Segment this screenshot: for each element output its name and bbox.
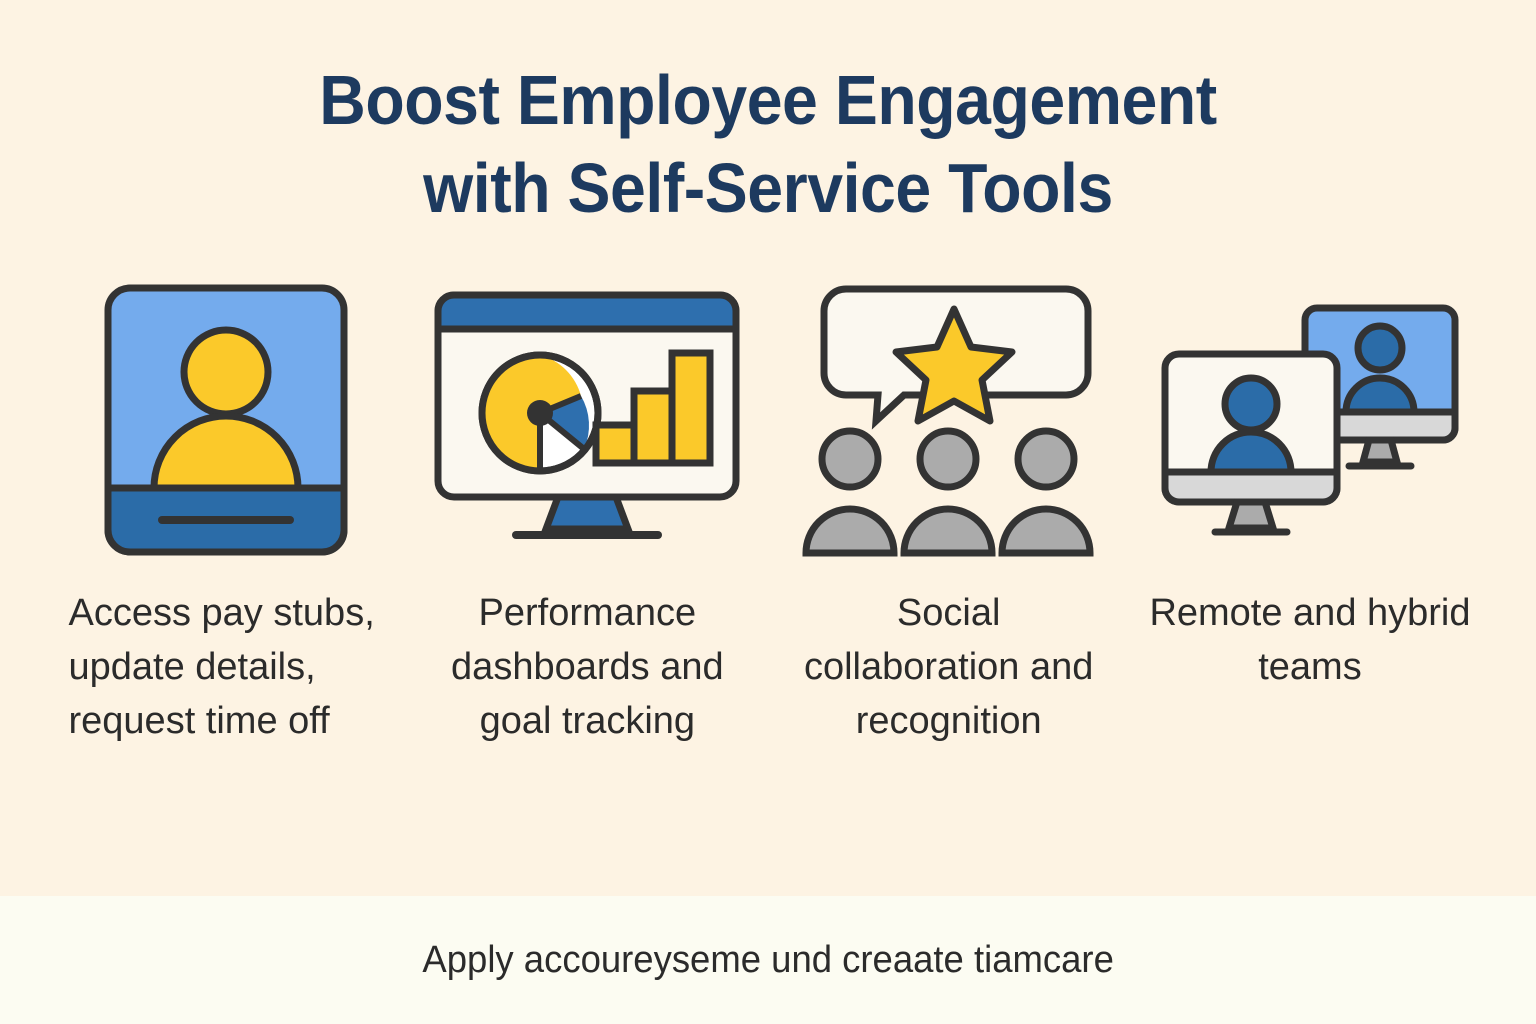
front-monitor <box>1165 354 1337 532</box>
employee-id-badge-icon <box>100 270 352 570</box>
performance-dashboard-monitor-icon <box>432 270 742 570</box>
remote-dual-monitor-icon <box>1157 270 1463 570</box>
feature-card-remote-hybrid: Remote and hybrid teams <box>1140 270 1480 694</box>
people-group <box>806 431 1090 553</box>
feature-caption: Access pay stubs, update details, reques… <box>69 586 384 748</box>
feature-cards-row: Access pay stubs, update details, reques… <box>0 232 1536 896</box>
feature-card-social-recognition: Social collaboration and recognition <box>779 270 1119 748</box>
team-recognition-star-icon <box>796 270 1102 570</box>
feature-caption: Remote and hybrid teams <box>1145 586 1475 694</box>
feature-caption: Performance dashboards and goal tracking <box>432 586 742 748</box>
footer-band: Apply accoureyseme und creaate tiamcare <box>0 896 1536 1024</box>
mini-pie-chart <box>482 355 598 471</box>
page-title: Boost Employee Engagement with Self-Serv… <box>0 0 1536 232</box>
infographic-poster: Boost Employee Engagement with Self-Serv… <box>0 0 1536 1024</box>
footer-text: Apply accoureyseme und creaate tiamcare <box>422 939 1113 982</box>
feature-caption: Social collaboration and recognition <box>794 586 1104 748</box>
title-line-1: Boost Employee Engagement <box>61 56 1474 144</box>
feature-card-performance-dashboard: Performance dashboards and goal tracking <box>417 270 757 748</box>
title-line-2: with Self-Service Tools <box>61 144 1474 232</box>
feature-card-employee-self-service: Access pay stubs, update details, reques… <box>56 270 396 748</box>
